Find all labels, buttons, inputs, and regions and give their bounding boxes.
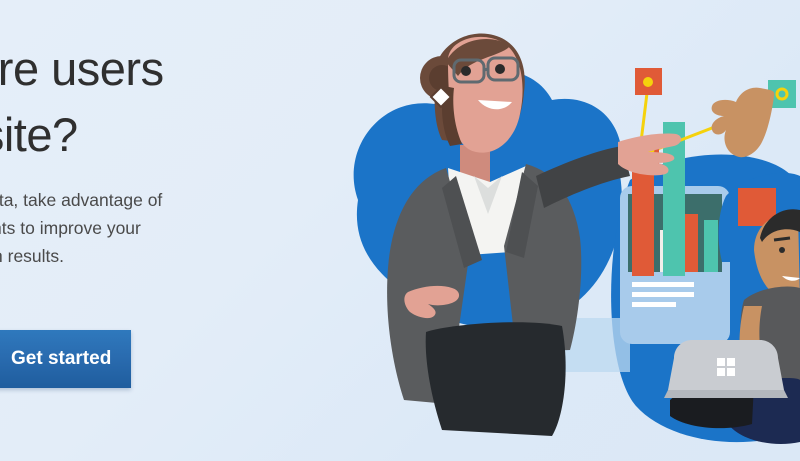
mini-bar-teal bbox=[704, 220, 718, 272]
hero-description: Access performance data, take advantage … bbox=[0, 186, 335, 270]
node-line-graph bbox=[635, 68, 796, 164]
analytics-team-illustration bbox=[330, 0, 800, 461]
skirt bbox=[426, 322, 566, 436]
node-hand bbox=[712, 88, 775, 158]
get-started-button[interactable]: Get started bbox=[0, 330, 131, 388]
page-title: Want more users on your site? bbox=[0, 36, 345, 168]
hero-text-column: Want more users on your site? Access per… bbox=[0, 0, 345, 461]
laptop bbox=[664, 340, 788, 398]
hero-banner: Want more users on your site? Access per… bbox=[0, 0, 800, 461]
